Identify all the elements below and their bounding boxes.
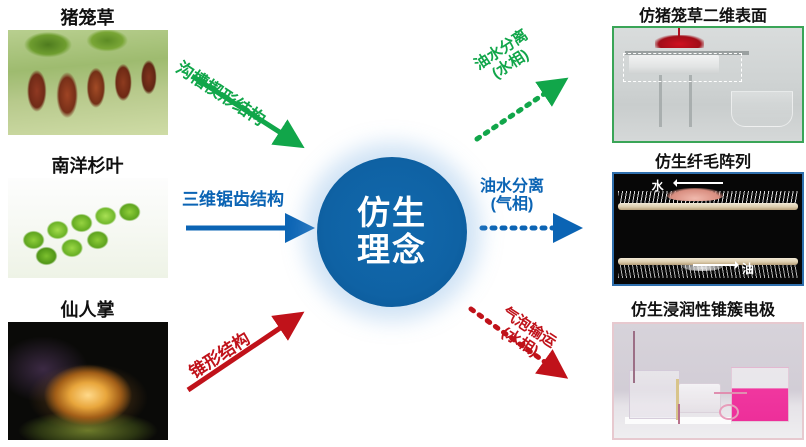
- tube-loop: [719, 404, 739, 420]
- photo-electrode-content: [614, 324, 802, 438]
- photo-2d-content: [614, 28, 802, 141]
- label-conical-structure: 锥形结构: [186, 329, 253, 382]
- label-groove-wedge-structure: 沟槽楔形结构: [173, 58, 269, 130]
- araucaria-caption: 南洋杉叶: [0, 152, 175, 178]
- araucaria-leaf-photo: [8, 178, 168, 278]
- label-oil-water-separation-water-phase: 油水分离 (水相): [472, 27, 541, 88]
- red-liquid-drop: [655, 35, 704, 49]
- connecting-tube: [714, 392, 748, 394]
- label-oil-water-separation-gas-phase: 油水分离 (气相): [480, 178, 544, 214]
- arrow-oil-water-separation-water-phase: [477, 86, 556, 139]
- label-line-1: 油水分离: [480, 178, 544, 196]
- oil-direction-arrow: [693, 264, 738, 266]
- biomimetic-cilia-array-caption: 仿生纤毛阵列: [600, 148, 806, 172]
- nepenthes-photo: [8, 30, 168, 135]
- biomimetic-wettable-cone-electrode-photo: [612, 322, 804, 440]
- support-column-right: [689, 75, 692, 127]
- center-cell: [678, 383, 721, 412]
- cactus-caption: 仙人掌: [0, 296, 175, 322]
- label-line-2: (气相): [480, 196, 544, 214]
- biomimetic-2d-surface-photo: [612, 26, 804, 143]
- water-direction-arrow: [674, 182, 723, 184]
- biomimetic-wettable-cone-electrode-caption: 仿生浸润性锥簇电极: [600, 296, 806, 320]
- cilia-photo-top-panel: 水: [614, 174, 802, 230]
- right-tank-pink-electrolyte: [731, 367, 789, 421]
- highlight-dashed-box: [623, 53, 742, 82]
- cactus-photo: [8, 322, 168, 440]
- biomimetic-cilia-array-photo: 水 油: [612, 172, 804, 286]
- araucaria-photo-content: [8, 178, 168, 278]
- cilia-rod-top: [618, 203, 798, 210]
- label-3d-sawtooth-structure: 三维锯齿结构: [182, 190, 284, 209]
- beaker-shape: [731, 91, 793, 127]
- connecting-wire: [678, 404, 680, 425]
- cactus-photo-content: [8, 322, 168, 440]
- water-droplet: [667, 188, 723, 201]
- label-bubble-transport-water-phase: 气泡输运 (水相): [490, 305, 559, 366]
- water-label: 水: [652, 177, 664, 194]
- support-column-left: [659, 75, 662, 127]
- central-concept-line-1: 仿生: [357, 195, 427, 232]
- left-electrode-rod: [633, 331, 635, 383]
- central-concept-circle: 仿生 理念: [317, 157, 467, 307]
- nepenthes-caption: 猪笼草: [0, 4, 175, 30]
- cilia-photo-bottom-panel: 油: [614, 229, 802, 284]
- oil-label: 油: [742, 260, 754, 277]
- central-concept-line-2: 理念: [357, 232, 427, 269]
- diagram-canvas: 猪笼草 南洋杉叶 仙人掌: [0, 0, 806, 447]
- biomimetic-2d-surface-caption: 仿猪笼草二维表面: [600, 2, 806, 26]
- nepenthes-photo-content: [8, 30, 168, 135]
- left-tank: [629, 370, 680, 420]
